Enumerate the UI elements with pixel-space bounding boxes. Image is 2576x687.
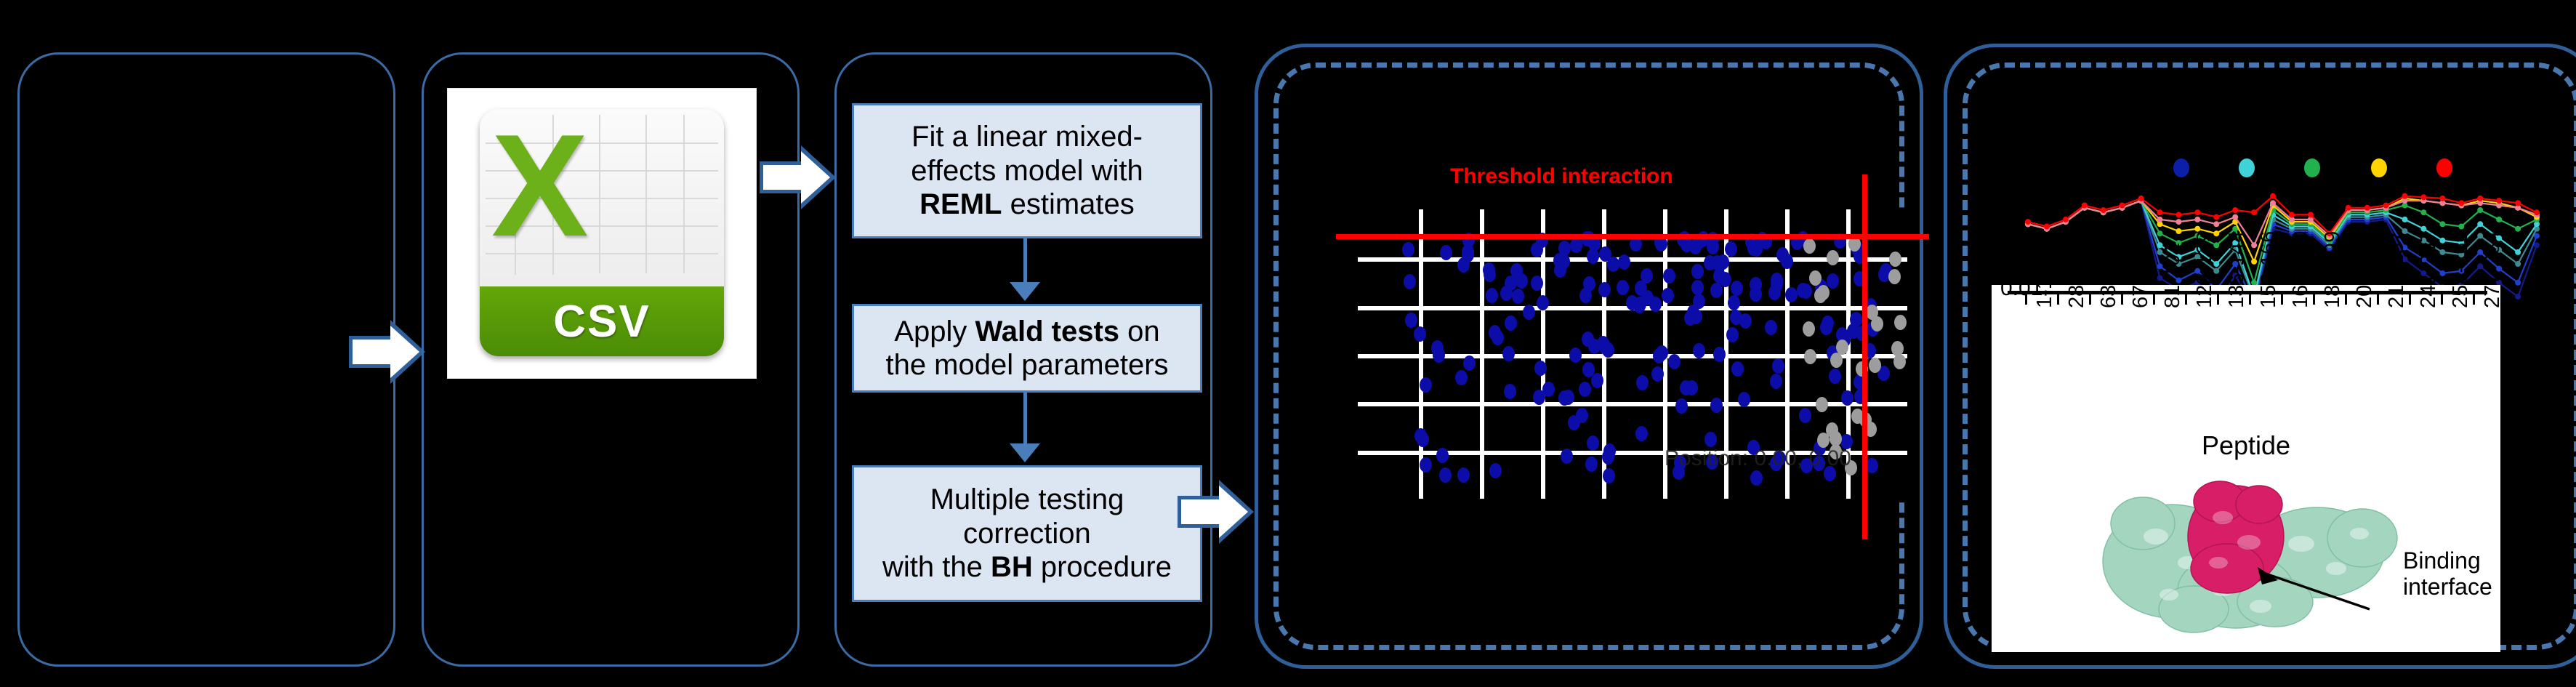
scatter-point-significant [1618, 254, 1630, 270]
legend-dot-t1 [2173, 158, 2189, 177]
series-marker [2213, 221, 2219, 227]
scatter-point-significant [1770, 374, 1782, 389]
scatter-point-significant [1662, 288, 1674, 303]
x-tick-label: 218-237 [2385, 231, 2409, 308]
x-tick-label: 81-101 [2161, 243, 2185, 308]
scatter-point-significant [1731, 281, 1743, 296]
scatter-point-significant [1414, 326, 1426, 342]
x-tick-label: 258-266 [2449, 231, 2473, 308]
scatter-point-significant [1585, 457, 1598, 472]
series-marker [2138, 196, 2144, 201]
scatter-point-significant [1420, 457, 1432, 473]
grid-line-horizontal [1358, 257, 1907, 262]
scatter-point-significant [1693, 343, 1705, 358]
scatter-point-significant [1704, 255, 1716, 270]
scatter-point-significant [1691, 264, 1704, 279]
scatter-point-significant [1591, 373, 1603, 388]
legend-dot-t4 [2371, 158, 2387, 177]
scatter-point-nonsignificant [1889, 252, 1901, 267]
series-marker [2251, 209, 2257, 215]
x-tick-label: 67-75 [2129, 254, 2153, 308]
series-marker [2496, 198, 2502, 204]
threshold-state-line [1862, 174, 1867, 539]
scatter-point-significant [1725, 241, 1737, 257]
scatter-point-significant [1502, 346, 1515, 361]
x-tick [2249, 294, 2251, 305]
fit-model-box[interactable]: Fit a linear mixed- effects model with R… [852, 103, 1202, 238]
scatter-point-significant [1781, 254, 1793, 269]
scatter-point-significant [1827, 273, 1839, 289]
reml-keyword: REML [919, 188, 1002, 220]
scatter-point-nonsignificant [1803, 321, 1815, 337]
series-marker [2477, 196, 2483, 201]
series-marker [2496, 217, 2502, 222]
scatter-point-significant [1713, 347, 1726, 362]
x-tick [2345, 294, 2347, 305]
scatter-point-significant [1516, 273, 1528, 289]
connector-arrow-2 [1010, 443, 1040, 462]
series-marker [2175, 212, 2181, 217]
scatter-point-significant [1850, 312, 1862, 327]
scatter-point-significant [1785, 287, 1798, 302]
series-marker [2157, 209, 2163, 215]
x-tick [2281, 294, 2283, 305]
scatter-point-significant [1663, 268, 1675, 284]
x-tick-label: 200-214 [2353, 231, 2377, 308]
wald-post: on [1119, 316, 1160, 347]
scatter-point-significant [1636, 375, 1649, 390]
scatter-point-significant [1738, 392, 1750, 407]
scatter-point-nonsignificant [1866, 305, 1878, 320]
scatter-point-significant [1504, 384, 1516, 399]
x-tick-label: 158-166 [2257, 231, 2281, 308]
x-tick-label: 167-180 [2289, 231, 2313, 308]
scatter-point-significant [1653, 348, 1665, 363]
series-marker [2402, 193, 2408, 199]
scatter-point-significant [1617, 280, 1629, 295]
x-tick [2377, 294, 2379, 305]
scatter-point-significant [1598, 282, 1611, 297]
scatter-point-significant [1457, 467, 1470, 483]
series-marker [2420, 209, 2426, 215]
x-tick [2473, 294, 2475, 305]
scatter-point-significant [1405, 313, 1417, 328]
scatter-point-significant [1570, 238, 1582, 253]
csv-label: CSV [553, 296, 650, 347]
csv-file-icon: X CSV [448, 89, 756, 378]
series-marker [2232, 214, 2238, 220]
scatter-point-significant [1841, 390, 1853, 406]
scatter-point-significant [1691, 280, 1704, 295]
scatter-point-significant [1569, 347, 1582, 363]
series-marker [2439, 221, 2445, 227]
scatter-point-significant [1512, 289, 1524, 304]
scatter-point-nonsignificant [1803, 238, 1816, 254]
scatter-point-significant [1668, 354, 1681, 369]
x-tick-label: 1-15 [2033, 266, 2057, 308]
binding-interface-line1: Binding [2403, 547, 2481, 574]
scatter-point-significant [1603, 468, 1615, 483]
scatter-point-nonsignificant [1826, 422, 1838, 438]
connector-1 [1023, 238, 1027, 284]
legend-dot-t5 [2436, 158, 2452, 177]
series-marker [2420, 194, 2426, 200]
scatter-point-significant [1750, 286, 1762, 302]
scatter-point-significant [1799, 408, 1811, 423]
scatter-point-significant [1675, 398, 1688, 414]
scatter-point-significant [1680, 380, 1692, 395]
series-marker [2175, 228, 2181, 234]
x-tick-label: 277-284 [2481, 231, 2505, 308]
x-tick [2153, 294, 2155, 305]
series-marker [2402, 217, 2408, 222]
x-tick [2121, 294, 2123, 305]
series-marker [2477, 221, 2483, 227]
scatter-point-significant [1726, 327, 1739, 342]
legend-dot-t2 [2239, 158, 2255, 177]
x-tick [2057, 294, 2059, 305]
scatter-point-significant [1768, 285, 1781, 300]
series-marker [2175, 219, 2181, 225]
x-tick [2217, 294, 2219, 305]
series-marker [2270, 200, 2276, 206]
scatter-point-significant [1436, 448, 1449, 463]
scatter-point-significant [1420, 377, 1432, 393]
wald-pre: Apply [894, 316, 975, 347]
legend-dot-t3 [2304, 158, 2320, 177]
scatter-point-significant [1523, 305, 1535, 320]
scatter-point-nonsignificant [1830, 353, 1843, 368]
x-tick-label: 184-199 [2321, 231, 2345, 308]
series-marker [2346, 205, 2351, 211]
series-marker [2044, 224, 2050, 230]
arrow-right-icon-2 [760, 145, 840, 209]
scatter-point-nonsignificant [1814, 288, 1827, 303]
connector-arrow-1 [1010, 282, 1040, 301]
scatter-point-significant [1717, 254, 1729, 270]
scatter-point-significant [1772, 358, 1784, 374]
scatter-point-significant [1651, 366, 1664, 382]
scatter-point-significant [1603, 443, 1616, 459]
arrow-right-icon-1 [349, 320, 429, 384]
bh-line1: Multiple testing [930, 483, 1124, 515]
series-marker [2515, 261, 2521, 267]
scatter-point-significant [1492, 330, 1504, 345]
fit-model-tail: estimates [1002, 188, 1135, 220]
scatter-point-significant [1750, 470, 1763, 486]
scatter-point-significant [1710, 398, 1723, 413]
series-marker [2232, 207, 2238, 213]
wald-keyword: Wald tests [975, 316, 1120, 347]
series-marker [2458, 224, 2464, 230]
series-marker [2439, 196, 2445, 201]
x-tick-label: 122-129 [2193, 231, 2217, 308]
wald-line2: the model parameters [885, 349, 1168, 381]
series-marker [2213, 214, 2219, 220]
series-marker [2251, 242, 2257, 248]
series-marker [2515, 226, 2521, 232]
threshold-interaction-label: Threshold interaction [1450, 164, 1673, 189]
series-marker [2063, 217, 2069, 222]
x-tick [2313, 294, 2315, 305]
series-marker [2194, 217, 2200, 222]
scatter-point-significant [1587, 435, 1599, 451]
scatter-point-nonsignificant [1804, 349, 1816, 364]
scatter-point-significant [1820, 320, 1832, 335]
peptide-axis-card: 0.01 1-1528-4463-7367-7581-101122-129135… [1992, 285, 2500, 652]
scatter-point-significant [1558, 254, 1570, 269]
scatter-point-significant [1463, 355, 1476, 371]
scatter-point-nonsignificant [1869, 358, 1881, 373]
fit-model-line2: effects model with [911, 155, 1143, 187]
scatter-point-significant [1607, 257, 1619, 272]
scatter-point-nonsignificant [1816, 397, 1828, 412]
flowchart-stage: X CSV Fit a linear mixed- effects model … [0, 0, 2576, 687]
series-marker [2025, 219, 2031, 225]
x-tick [2409, 294, 2411, 305]
series-marker [2364, 205, 2370, 211]
series-marker [2194, 209, 2200, 215]
scatter-point-nonsignificant [1809, 270, 1822, 286]
series-marker [2515, 249, 2521, 255]
arrow-right-icon-3 [1178, 480, 1257, 544]
scatter-point-significant [1866, 458, 1878, 473]
fit-model-line1: Fit a linear mixed- [911, 121, 1143, 153]
scatter-point-significant [1417, 432, 1429, 447]
series-marker [2082, 203, 2088, 209]
series-marker [2308, 212, 2314, 217]
series-marker [2515, 280, 2521, 286]
series-marker [2157, 230, 2163, 236]
scatter-point-significant [1402, 242, 1414, 257]
scatter-point-nonsignificant [1891, 341, 1904, 356]
scatter-point-significant [1587, 249, 1599, 264]
scatter-point-significant [1635, 426, 1648, 441]
series-marker [2515, 294, 2521, 300]
x-axis-title: Peptide [1992, 430, 2500, 461]
scatter-point-nonsignificant [1827, 250, 1839, 265]
scatter-point-significant [1693, 294, 1705, 309]
series-marker [2101, 207, 2106, 213]
x-tick-label: 135-144 [2225, 231, 2249, 308]
x-tick-label: 63-73 [2097, 254, 2121, 308]
series-marker [2458, 200, 2464, 206]
series-marker [2515, 200, 2521, 206]
scatter-point-significant [1641, 268, 1653, 284]
scatter-point-nonsignificant [1893, 354, 1906, 369]
x-tick [2441, 294, 2443, 305]
series-marker [2383, 203, 2389, 209]
protein-structure-image [2077, 467, 2419, 634]
bh-post: procedure [1033, 551, 1172, 583]
scatter-point-nonsignificant [1888, 269, 1901, 284]
scatter-point-significant [1486, 288, 1498, 303]
connector-2 [1023, 393, 1027, 445]
x-tick [2089, 294, 2091, 305]
scatter-point-significant [1829, 369, 1841, 384]
series-marker [2477, 207, 2483, 213]
series-marker [2120, 203, 2125, 209]
bh-correction-box[interactable]: Multiple testing correction with the BH … [852, 465, 1202, 602]
series-marker [2270, 193, 2276, 199]
scatter-point-significant [1561, 449, 1573, 464]
x-tick [2025, 294, 2027, 305]
series-marker [2534, 209, 2540, 215]
x-tick [2185, 294, 2187, 305]
series-marker [2251, 259, 2257, 265]
scatter-point-significant [1579, 288, 1592, 303]
series-marker [2157, 217, 2163, 222]
scatter-point-significant [1765, 320, 1777, 335]
scatter-point-nonsignificant [1894, 315, 1907, 330]
scatter-point-significant [1439, 467, 1452, 483]
scatter-point-significant [1455, 370, 1468, 385]
x-tick-label: 241-257 [2417, 231, 2441, 308]
series-marker [2289, 212, 2295, 217]
scatter-point-significant [1704, 432, 1717, 447]
scatter-point-significant [1576, 408, 1588, 423]
scatter-point-significant [1641, 290, 1654, 305]
scatter-point-significant [1404, 274, 1416, 289]
scatter-point-significant [1719, 272, 1731, 287]
ghost-position-readout: Position: 0.00, 0.00 [1665, 446, 1851, 471]
bh-line2: correction [963, 518, 1091, 550]
scatter-point-significant [1500, 286, 1513, 301]
panel-input [17, 52, 395, 667]
scatter-point-significant [1579, 382, 1591, 397]
bh-keyword: BH [991, 551, 1033, 583]
scatter-point-significant [1731, 361, 1744, 377]
threshold-interaction-line [1336, 234, 1929, 239]
scatter-point-significant [1489, 463, 1502, 478]
series-marker [2534, 242, 2540, 248]
x-tick-label: 28-44 [2065, 254, 2089, 308]
scatter-point-significant [1484, 267, 1496, 282]
binding-interface-label: Binding interface [2403, 548, 2492, 600]
wald-test-box[interactable]: Apply Wald tests on the model parameters [852, 304, 1202, 393]
bh-pre: with the [882, 551, 991, 583]
binding-interface-line2: interface [2403, 574, 2492, 600]
scatter-point-significant [1505, 316, 1517, 331]
excel-x-letter: X [491, 113, 588, 259]
